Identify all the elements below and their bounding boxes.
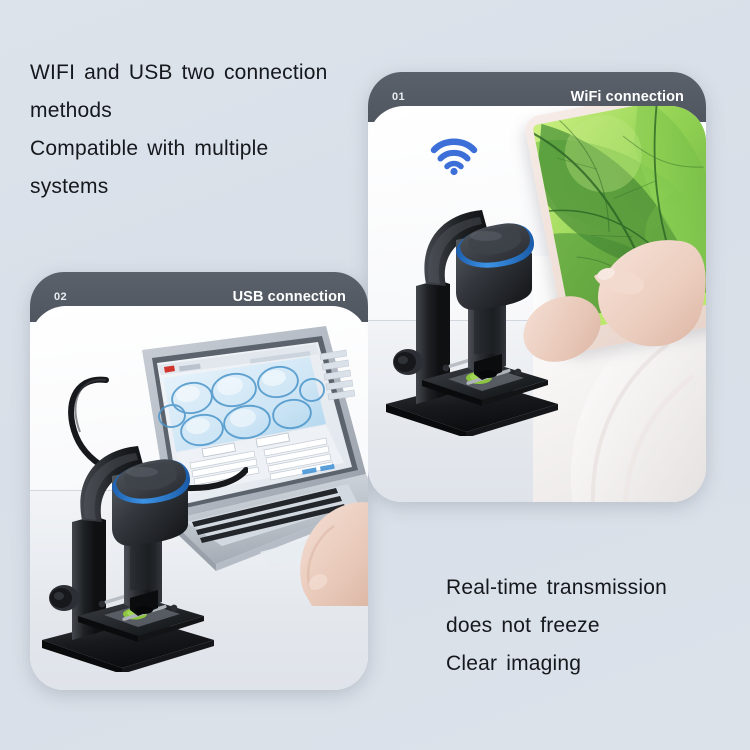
headline-line: systems: [30, 168, 328, 206]
headline-line: WIFI and USB two connection: [30, 54, 328, 92]
product-infographic: WIFI and USB two connection methods Comp…: [0, 0, 750, 750]
card-index-label: 02: [54, 291, 67, 303]
usb-connection-card: 02 USB connection: [30, 272, 368, 690]
hand-on-trackpad: [282, 496, 368, 606]
digital-microscope-wifi: [382, 166, 562, 436]
usb-scene-photo: [30, 306, 368, 690]
card-title-label: USB connection: [233, 289, 346, 305]
headline-line: Real-time transmission: [446, 569, 667, 607]
headline-line: methods: [30, 92, 328, 130]
headline-bottom-right: Real-time transmission does not freeze C…: [446, 569, 667, 683]
headline-line: Compatible with multiple: [30, 130, 328, 168]
card-title-label: WiFi connection: [571, 89, 684, 105]
hand-upper: [590, 224, 706, 354]
wifi-signal-icon: [428, 134, 480, 176]
wifi-connection-card: 01 WiFi connection: [368, 72, 706, 502]
digital-microscope-usb: [38, 402, 218, 672]
headline-line: does not freeze: [446, 607, 667, 645]
headline-line: Clear imaging: [446, 645, 667, 683]
wifi-scene-photo: [368, 106, 706, 502]
headline-top-left: WIFI and USB two connection methods Comp…: [30, 54, 328, 206]
card-index-label: 01: [392, 91, 405, 103]
